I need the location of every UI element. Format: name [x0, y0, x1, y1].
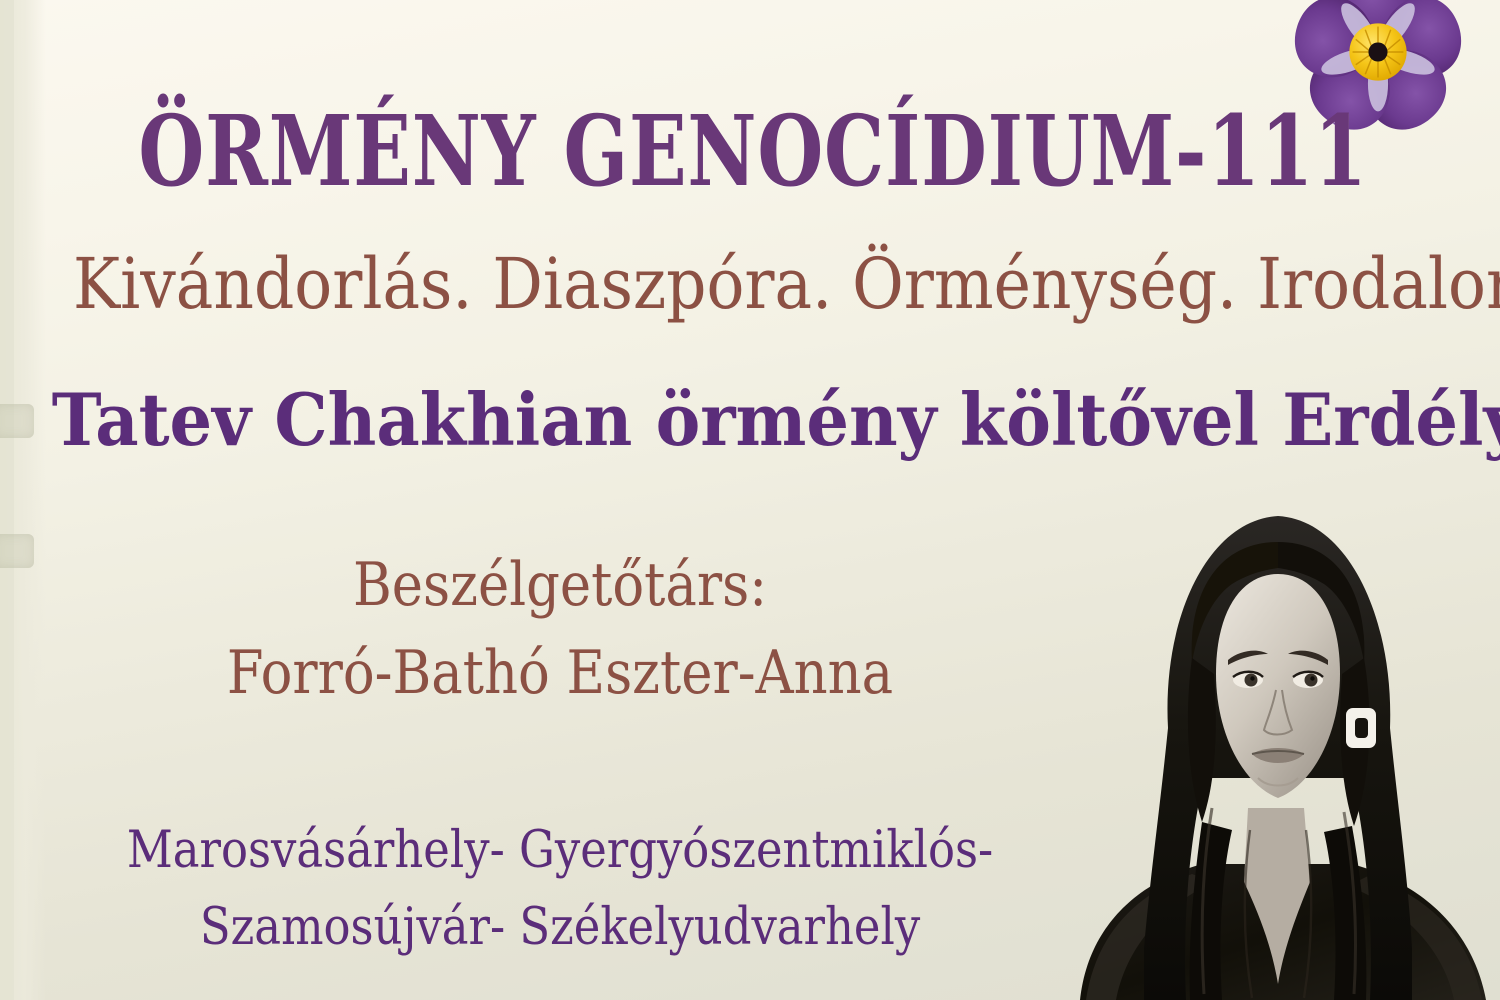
portrait-photo	[1052, 478, 1500, 1000]
poster-canvas: ÖRMÉNY GENOCÍDIUM-111 Kivándorlás. Diasz…	[0, 0, 1500, 1000]
subtitle-text: Kivándorlás. Diaszpóra. Örménység. Iroda…	[73, 248, 1387, 322]
left-edge-band	[0, 0, 46, 1000]
cities-block: Marosvásárhely- Gyergyószentmiklós- Szam…	[60, 822, 1060, 956]
city-line-2: Szamosújvár- Székelyudvarhely	[120, 899, 1000, 956]
moderator-name: Forró-Bathó Eszter-Anna	[120, 640, 1000, 706]
event-headline: Tatev Chakhian örmény költővel Erdélyben	[52, 382, 1428, 458]
watermark-artifact-lower	[0, 534, 34, 568]
page-title: ÖRMÉNY GENOCÍDIUM-111	[138, 101, 1119, 202]
left-edge-strip	[0, 0, 14, 1000]
city-line-1: Marosvásárhely- Gyergyószentmiklós-	[120, 822, 1000, 879]
watermark-artifact-upper	[0, 404, 34, 438]
moderator-label: Beszélgetőtárs:	[120, 552, 1000, 618]
moderator-block: Beszélgetőtárs: Forró-Bathó Eszter-Anna	[60, 552, 1060, 706]
